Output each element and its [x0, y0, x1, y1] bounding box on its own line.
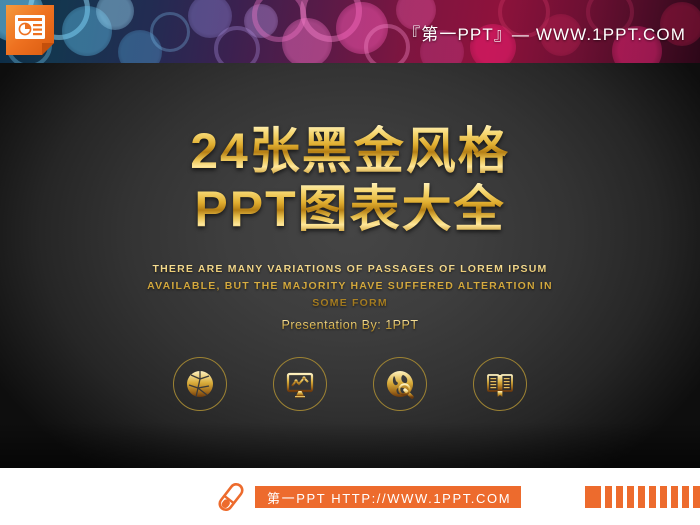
slide-canvas: 『第一PPT』— WWW.1PPT.COM 24张黑金风格 PPT图表大全 TH…: [0, 0, 700, 468]
icon-button-globe[interactable]: [373, 357, 427, 411]
footer-stripe: [671, 486, 678, 508]
footer-stripe: [693, 486, 700, 508]
slide-body: 24张黑金风格 PPT图表大全 THERE ARE MANY VARIATION…: [0, 63, 700, 468]
globe-icon: [385, 369, 415, 399]
header-site-label: 『第一PPT』— WWW.1PPT.COM: [403, 0, 686, 64]
footer-banner: 第一PPT HTTP://WWW.1PPT.COM: [255, 486, 521, 508]
footer-banner-text: 第一PPT HTTP://WWW.1PPT.COM: [267, 488, 511, 507]
footer-stripe: [627, 486, 634, 508]
bokeh-circle: [150, 12, 190, 52]
pen-icon: [214, 481, 248, 513]
presentation-screen-icon: [285, 369, 315, 399]
footer-stripe: [638, 486, 645, 508]
presenter-text: Presentation By: 1PPT: [0, 318, 700, 332]
subtitle-text: THERE ARE MANY VARIATIONS OF PASSAGES OF…: [135, 261, 565, 312]
footer-stripe: [660, 486, 667, 508]
icon-button-open-book[interactable]: [473, 357, 527, 411]
footer-bar: 第一PPT HTTP://WWW.1PPT.COM: [0, 468, 700, 525]
footer-stripe: [682, 486, 689, 508]
icon-button-presentation-screen[interactable]: [273, 357, 327, 411]
title-line-2: PPT图表大全: [0, 183, 700, 235]
pie-chart-icon: [185, 369, 215, 399]
open-book-icon: [485, 369, 515, 399]
footer-stripe: [585, 486, 601, 508]
footer-stripe: [605, 486, 612, 508]
title-block: 24张黑金风格 PPT图表大全: [0, 125, 700, 235]
powerpoint-logo-icon: [4, 3, 56, 57]
footer-stripes: [585, 486, 700, 508]
footer-stripe: [649, 486, 656, 508]
title-line-1: 24张黑金风格: [0, 125, 700, 177]
icon-button-pie-chart[interactable]: [173, 357, 227, 411]
slide-preview-page: 『第一PPT』— WWW.1PPT.COM 24张黑金风格 PPT图表大全 TH…: [0, 0, 700, 525]
footer-stripe: [616, 486, 623, 508]
header-bokeh-band: 『第一PPT』— WWW.1PPT.COM: [0, 0, 700, 64]
icon-row: [0, 357, 700, 411]
